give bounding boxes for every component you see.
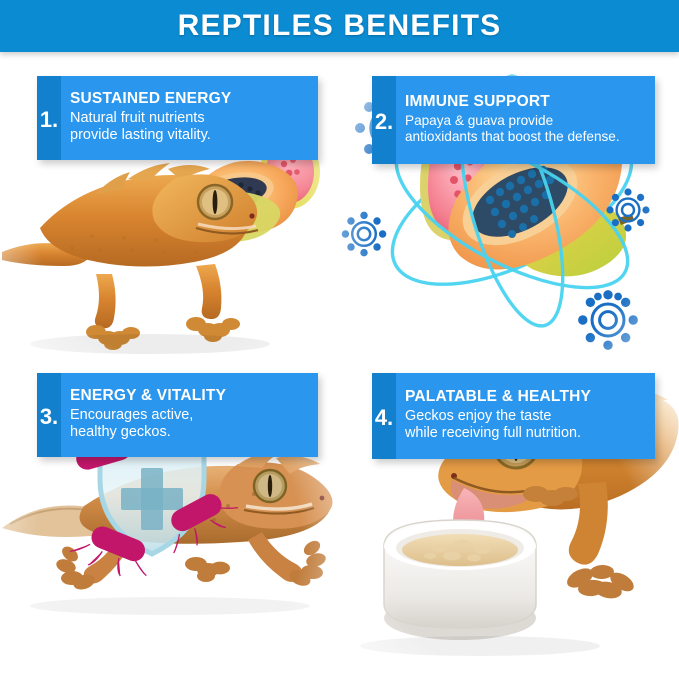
benefit-card-1-title: SUSTAINED ENERGY <box>70 90 310 108</box>
page-title: REPTILES BENEFITS <box>178 9 502 43</box>
benefit-card-4-number: 4. <box>375 403 393 429</box>
benefit-card-4-number-strip: 4. <box>372 373 396 459</box>
benefit-card-1-description: Natural fruit nutrients provide lasting … <box>70 110 310 145</box>
shadow <box>30 597 310 615</box>
gecko-foot <box>564 564 637 600</box>
benefit-card-2: 2. IMMUNE SUPPORT Papaya & guava provide… <box>372 76 655 164</box>
molecule-icon-small-left <box>342 212 387 257</box>
benefit-card-2-title: IMMUNE SUPPORT <box>405 93 647 111</box>
benefit-card-3-description: Encourages active, healthy geckos. <box>70 407 310 442</box>
page-header: REPTILES BENEFITS <box>0 0 679 52</box>
benefit-card-1-number-strip: 1. <box>37 76 61 160</box>
benefit-card-3-body: ENERGY & VITALITY Encourages active, hea… <box>61 373 318 457</box>
infographic-page: REPTILES BENEFITS <box>0 0 679 679</box>
benefit-card-2-body: IMMUNE SUPPORT Papaya & guava provide an… <box>396 76 655 164</box>
molecule-icon-small-right <box>606 188 649 231</box>
benefit-card-4-body: PALATABLE & HEALTHY Geckos enjoy the tas… <box>396 373 655 459</box>
benefit-card-3-number-strip: 3. <box>37 373 61 457</box>
benefit-card-4: 4. PALATABLE & HEALTHY Geckos enjoy the … <box>372 373 655 459</box>
benefit-card-1: 1. SUSTAINED ENERGY Natural fruit nutrie… <box>37 76 318 160</box>
shadow <box>360 636 600 656</box>
benefit-card-1-number: 1. <box>40 105 58 131</box>
cross-horizontal <box>121 488 183 510</box>
benefit-card-1-body: SUSTAINED ENERGY Natural fruit nutrients… <box>61 76 318 160</box>
benefit-card-2-number-strip: 2. <box>372 76 396 164</box>
benefit-card-4-description: Geckos enjoy the taste while receiving f… <box>405 408 647 443</box>
food-bowl <box>384 520 536 640</box>
shadow <box>30 334 270 354</box>
benefit-card-2-number: 2. <box>375 107 393 133</box>
benefit-card-3-number: 3. <box>40 402 58 428</box>
molecule-icon-bottom-right <box>578 290 638 350</box>
benefit-card-3-title: ENERGY & VITALITY <box>70 387 310 405</box>
benefit-card-4-title: PALATABLE & HEALTHY <box>405 388 647 406</box>
benefit-card-3: 3. ENERGY & VITALITY Encourages active, … <box>37 373 318 457</box>
fruit-puree <box>402 534 518 566</box>
benefit-card-2-description: Papaya & guava provide antioxidants that… <box>405 113 647 146</box>
crested-gecko-illustration <box>2 163 258 350</box>
